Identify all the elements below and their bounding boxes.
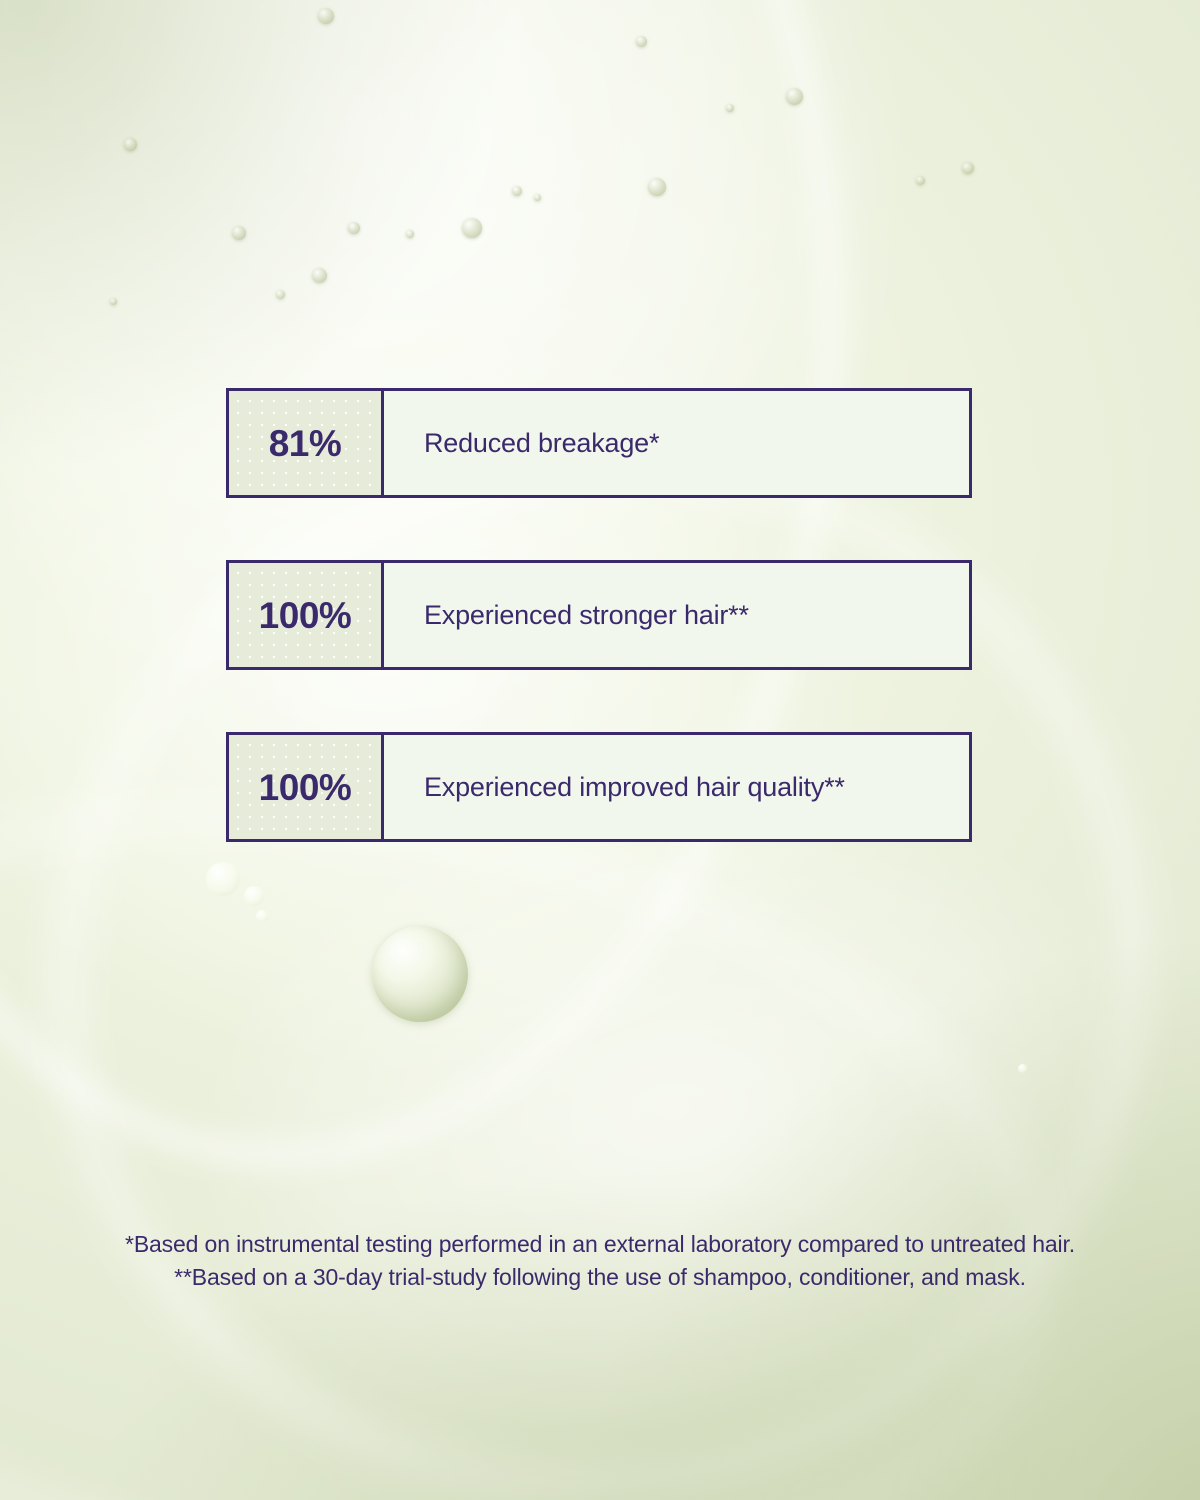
bubble (916, 176, 925, 185)
footnote-single-asterisk: *Based on instrumental testing performed… (0, 1228, 1200, 1261)
stat-row: 100% Experienced stronger hair** (226, 560, 972, 670)
bubble (534, 194, 541, 201)
bubble (256, 910, 268, 922)
bubble (726, 104, 734, 112)
footnote-double-asterisk: **Based on a 30-day trial-study followin… (0, 1261, 1200, 1294)
bubble (648, 178, 666, 196)
statistics-list: 81% Reduced breakage* 100% Experienced s… (226, 388, 972, 842)
stat-percent-value: 81% (269, 425, 342, 462)
bubble (124, 138, 137, 151)
stat-row: 100% Experienced improved hair quality** (226, 732, 972, 842)
bubble (962, 162, 974, 174)
bubble (786, 88, 803, 105)
bubble (348, 222, 360, 234)
bubble (244, 886, 264, 906)
stat-label-cell: Reduced breakage* (384, 391, 969, 495)
stat-percent-value: 100% (259, 597, 352, 634)
bubble (206, 862, 240, 896)
stat-label-text: Reduced breakage* (424, 427, 659, 459)
stat-percent-value: 100% (259, 769, 352, 806)
bubble (318, 8, 334, 24)
stat-label-text: Experienced improved hair quality** (424, 771, 845, 803)
stat-label-cell: Experienced improved hair quality** (384, 735, 969, 839)
stat-percent-cell: 81% (229, 391, 384, 495)
bubble (276, 290, 285, 299)
bubble (1018, 1064, 1027, 1073)
stat-row: 81% Reduced breakage* (226, 388, 972, 498)
stat-label-cell: Experienced stronger hair** (384, 563, 969, 667)
bubble (462, 218, 482, 238)
bubble (512, 186, 522, 196)
bubble (372, 926, 468, 1022)
bubble (312, 268, 327, 283)
stat-percent-cell: 100% (229, 563, 384, 667)
stat-label-text: Experienced stronger hair** (424, 599, 749, 631)
footnotes: *Based on instrumental testing performed… (0, 1228, 1200, 1293)
stat-percent-cell: 100% (229, 735, 384, 839)
bubble (110, 298, 117, 305)
bubble (406, 230, 414, 238)
bubble (232, 226, 246, 240)
bubble (636, 36, 647, 47)
